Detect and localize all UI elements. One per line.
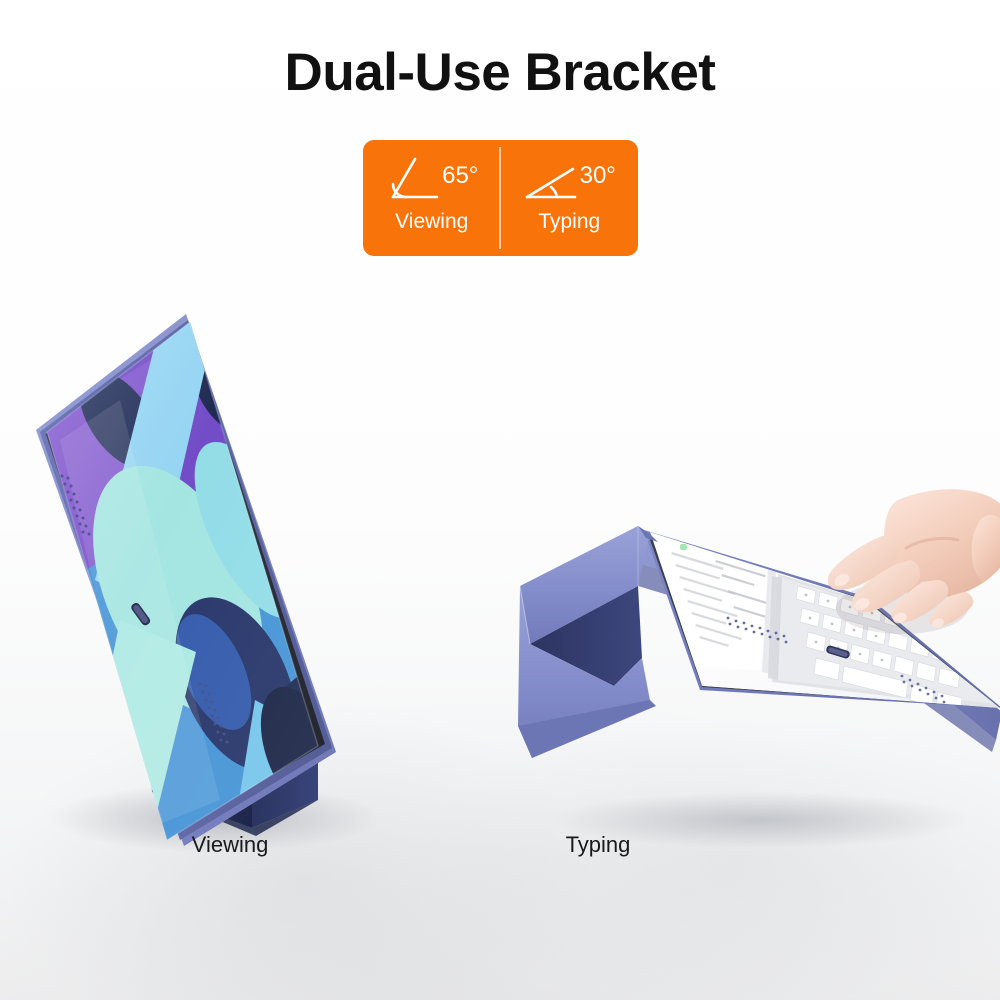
angle-badge: 65° Viewing 30° Typing [363,140,638,256]
angle-65-value: 65° [442,164,478,188]
tablet-viewing-illustration [0,280,470,840]
tablet-typing-illustration [510,490,1000,850]
hand-typing [828,489,1000,634]
badge-label-typing: Typing [538,211,600,232]
page-title: Dual-Use Bracket [0,44,1000,102]
caption-viewing: Viewing [130,832,330,858]
caption-typing: Typing [498,832,698,858]
badge-panel-viewing: 65° Viewing [363,140,501,256]
angle-30-value: 30° [580,164,616,188]
badge-label-viewing: Viewing [395,211,468,232]
angle-30-row: 30° [501,151,639,207]
viewing-scene [0,280,470,840]
angle-65-icon [385,154,441,204]
angle-65-row: 65° [363,151,501,207]
badge-panel-typing: 30° Typing [501,140,639,256]
product-image-canvas: Dual-Use Bracket 65° Viewing [0,0,1000,1000]
typing-scene [510,490,1000,850]
angle-30-icon [523,154,579,204]
